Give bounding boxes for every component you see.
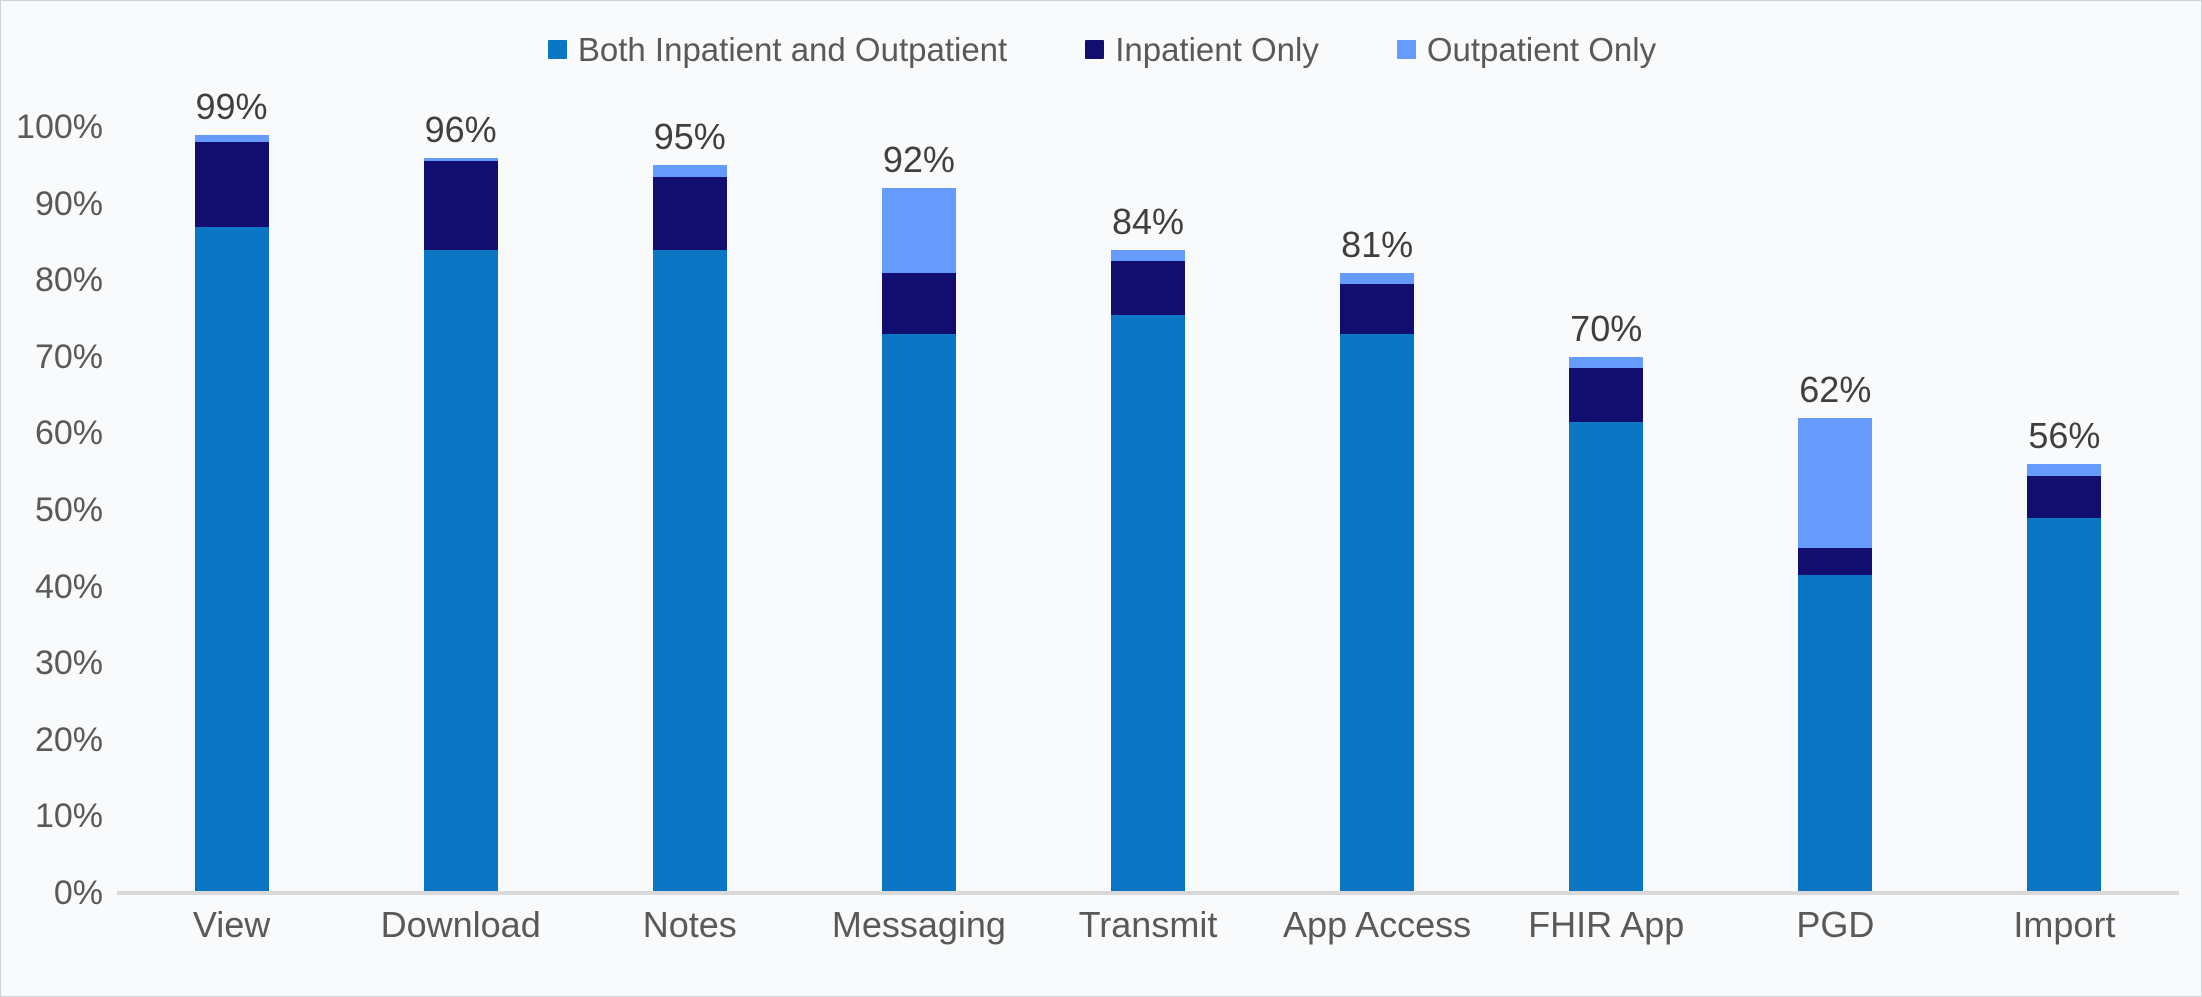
- bar-group-import[interactable]: 56%: [1950, 127, 2179, 893]
- x-axis-tick-view: View: [117, 907, 346, 943]
- bar-segment-outpatient-only[interactable]: [195, 135, 269, 143]
- chart-legend: Both Inpatient and Outpatient Inpatient …: [1, 33, 2202, 66]
- x-axis-tick-download: Download: [346, 907, 575, 943]
- x-axis: ViewDownloadNotesMessagingTransmitApp Ac…: [117, 907, 2179, 943]
- bar-segment-outpatient-only[interactable]: [1340, 273, 1414, 284]
- legend-item-inpatient-only[interactable]: Inpatient Only: [1085, 33, 1319, 66]
- legend-swatch-both: [548, 40, 567, 59]
- bar-segment-outpatient-only[interactable]: [2027, 464, 2101, 475]
- legend-swatch-inpatient-only: [1085, 40, 1104, 59]
- bar-stack[interactable]: [2027, 464, 2101, 893]
- bar-stack[interactable]: [424, 158, 498, 893]
- bar-stack[interactable]: [1340, 273, 1414, 893]
- y-axis-tick-100: 100%: [16, 110, 103, 144]
- bar-stack[interactable]: [653, 165, 727, 893]
- bar-value-label: 92%: [883, 142, 955, 178]
- bar-stack[interactable]: [882, 188, 956, 893]
- bar-segment-outpatient-only[interactable]: [1569, 357, 1643, 368]
- y-axis-tick-10: 10%: [35, 799, 103, 833]
- y-axis-tick-60: 60%: [35, 416, 103, 450]
- bar-value-label: 70%: [1570, 311, 1642, 347]
- y-axis-tick-0: 0%: [54, 876, 103, 910]
- bar-segment-both-inpatient-and-outpatient[interactable]: [1111, 315, 1185, 893]
- stacked-bar-chart: Both Inpatient and Outpatient Inpatient …: [0, 0, 2202, 997]
- bar-segment-both-inpatient-and-outpatient[interactable]: [1340, 334, 1414, 893]
- bar-segment-outpatient-only[interactable]: [882, 188, 956, 272]
- y-axis: 100%90%80%70%60%50%40%30%20%10%0%: [1, 127, 109, 893]
- bar-segment-inpatient-only[interactable]: [1111, 261, 1185, 315]
- bar-segment-inpatient-only[interactable]: [882, 273, 956, 334]
- bar-segment-both-inpatient-and-outpatient[interactable]: [1798, 575, 1872, 893]
- bar-group-notes[interactable]: 95%: [575, 127, 804, 893]
- x-axis-tick-fhir-app: FHIR App: [1492, 907, 1721, 943]
- y-axis-tick-70: 70%: [35, 340, 103, 374]
- bar-value-label: 96%: [425, 112, 497, 148]
- bar-stack[interactable]: [1111, 250, 1185, 893]
- bar-group-pgd[interactable]: 62%: [1721, 127, 1950, 893]
- category-axis-line: [117, 891, 2179, 895]
- bar-segment-both-inpatient-and-outpatient[interactable]: [2027, 518, 2101, 893]
- legend-item-both[interactable]: Both Inpatient and Outpatient: [548, 33, 1007, 66]
- x-axis-tick-notes: Notes: [575, 907, 804, 943]
- y-axis-tick-20: 20%: [35, 723, 103, 757]
- bar-value-label: 56%: [2028, 418, 2100, 454]
- y-axis-tick-90: 90%: [35, 187, 103, 221]
- bar-group-download[interactable]: 96%: [346, 127, 575, 893]
- bar-segment-inpatient-only[interactable]: [1798, 548, 1872, 575]
- x-axis-tick-transmit: Transmit: [1033, 907, 1262, 943]
- x-axis-tick-messaging: Messaging: [804, 907, 1033, 943]
- bar-value-label: 99%: [196, 89, 268, 125]
- plot-bars: 99%96%95%92%84%81%70%62%56%: [117, 127, 2179, 893]
- bar-segment-inpatient-only[interactable]: [424, 161, 498, 249]
- y-axis-tick-30: 30%: [35, 646, 103, 680]
- legend-swatch-outpatient-only: [1397, 40, 1416, 59]
- bar-stack[interactable]: [1798, 418, 1872, 893]
- bar-segment-both-inpatient-and-outpatient[interactable]: [882, 334, 956, 893]
- bar-segment-outpatient-only[interactable]: [1111, 250, 1185, 261]
- legend-item-outpatient-only[interactable]: Outpatient Only: [1397, 33, 1656, 66]
- bar-segment-inpatient-only[interactable]: [1340, 284, 1414, 334]
- bar-segment-outpatient-only[interactable]: [653, 165, 727, 176]
- bar-segment-both-inpatient-and-outpatient[interactable]: [424, 250, 498, 893]
- bar-segment-both-inpatient-and-outpatient[interactable]: [653, 250, 727, 893]
- x-axis-tick-import: Import: [1950, 907, 2179, 943]
- y-axis-tick-50: 50%: [35, 493, 103, 527]
- bar-segment-inpatient-only[interactable]: [2027, 476, 2101, 518]
- bar-value-label: 95%: [654, 119, 726, 155]
- bar-stack[interactable]: [1569, 357, 1643, 893]
- bar-segment-inpatient-only[interactable]: [1569, 368, 1643, 422]
- bar-group-transmit[interactable]: 84%: [1033, 127, 1262, 893]
- bar-value-label: 84%: [1112, 204, 1184, 240]
- y-axis-tick-40: 40%: [35, 570, 103, 604]
- x-axis-tick-pgd: PGD: [1721, 907, 1950, 943]
- legend-label-outpatient-only: Outpatient Only: [1427, 33, 1656, 66]
- legend-label-both: Both Inpatient and Outpatient: [578, 33, 1007, 66]
- y-axis-tick-80: 80%: [35, 263, 103, 297]
- bar-group-app-access[interactable]: 81%: [1263, 127, 1492, 893]
- bar-group-messaging[interactable]: 92%: [804, 127, 1033, 893]
- bar-segment-outpatient-only[interactable]: [1798, 418, 1872, 548]
- legend-label-inpatient-only: Inpatient Only: [1115, 33, 1319, 66]
- x-axis-tick-app-access: App Access: [1263, 907, 1492, 943]
- bar-value-label: 81%: [1341, 227, 1413, 263]
- bar-segment-inpatient-only[interactable]: [195, 142, 269, 226]
- bar-segment-both-inpatient-and-outpatient[interactable]: [195, 227, 269, 893]
- bar-value-label: 62%: [1799, 372, 1871, 408]
- bar-group-view[interactable]: 99%: [117, 127, 346, 893]
- bar-segment-both-inpatient-and-outpatient[interactable]: [1569, 422, 1643, 893]
- bar-segment-inpatient-only[interactable]: [653, 177, 727, 250]
- bar-stack[interactable]: [195, 135, 269, 893]
- bar-group-fhir-app[interactable]: 70%: [1492, 127, 1721, 893]
